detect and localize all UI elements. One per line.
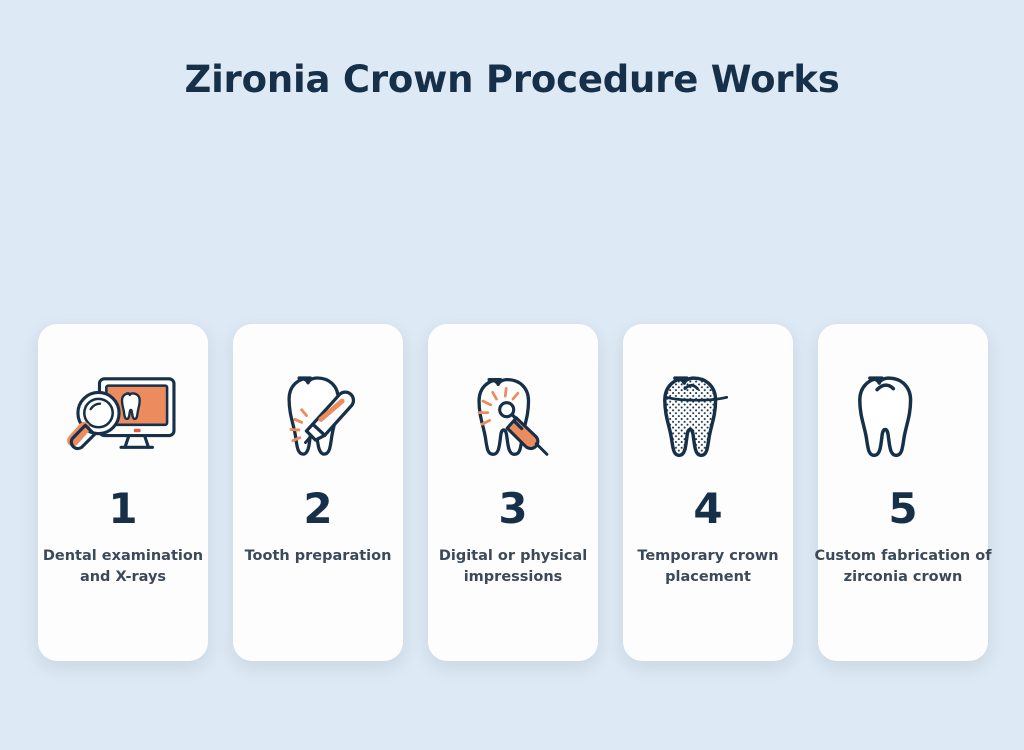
infographic-canvas: Zironia Crown Procedure Works (0, 0, 1024, 750)
step-number: 5 (888, 488, 917, 530)
tooth-scanner-probe-icon (453, 362, 573, 470)
tooth-outline-icon (843, 362, 963, 470)
step-label: Temporary crown placement (611, 546, 806, 588)
step-label: Dental examination and X-rays (26, 546, 221, 588)
step-label: Custom fabrication of zirconia crown (806, 546, 1001, 588)
tooth-drill-icon (258, 362, 378, 470)
step-card-2[interactable]: 2 Tooth preparation (233, 324, 403, 661)
step-number: 1 (108, 488, 137, 530)
step-card-5[interactable]: 5 Custom fabrication of zirconia crown (818, 324, 988, 661)
steps-row: 1 Dental examination and X-rays (38, 324, 986, 661)
step-label: Tooth preparation (221, 546, 416, 567)
step-card-1[interactable]: 1 Dental examination and X-rays (38, 324, 208, 661)
tooth-textured-crown-icon (648, 362, 768, 470)
step-label: Digital or physical impressions (416, 546, 611, 588)
step-number: 2 (303, 488, 332, 530)
step-number: 4 (693, 488, 722, 530)
page-title: Zironia Crown Procedure Works (0, 58, 1024, 101)
step-number: 3 (498, 488, 527, 530)
step-card-3[interactable]: 3 Digital or physical impressions (428, 324, 598, 661)
xray-monitor-magnifier-icon (63, 362, 183, 470)
step-card-4[interactable]: 4 Temporary crown placement (623, 324, 793, 661)
